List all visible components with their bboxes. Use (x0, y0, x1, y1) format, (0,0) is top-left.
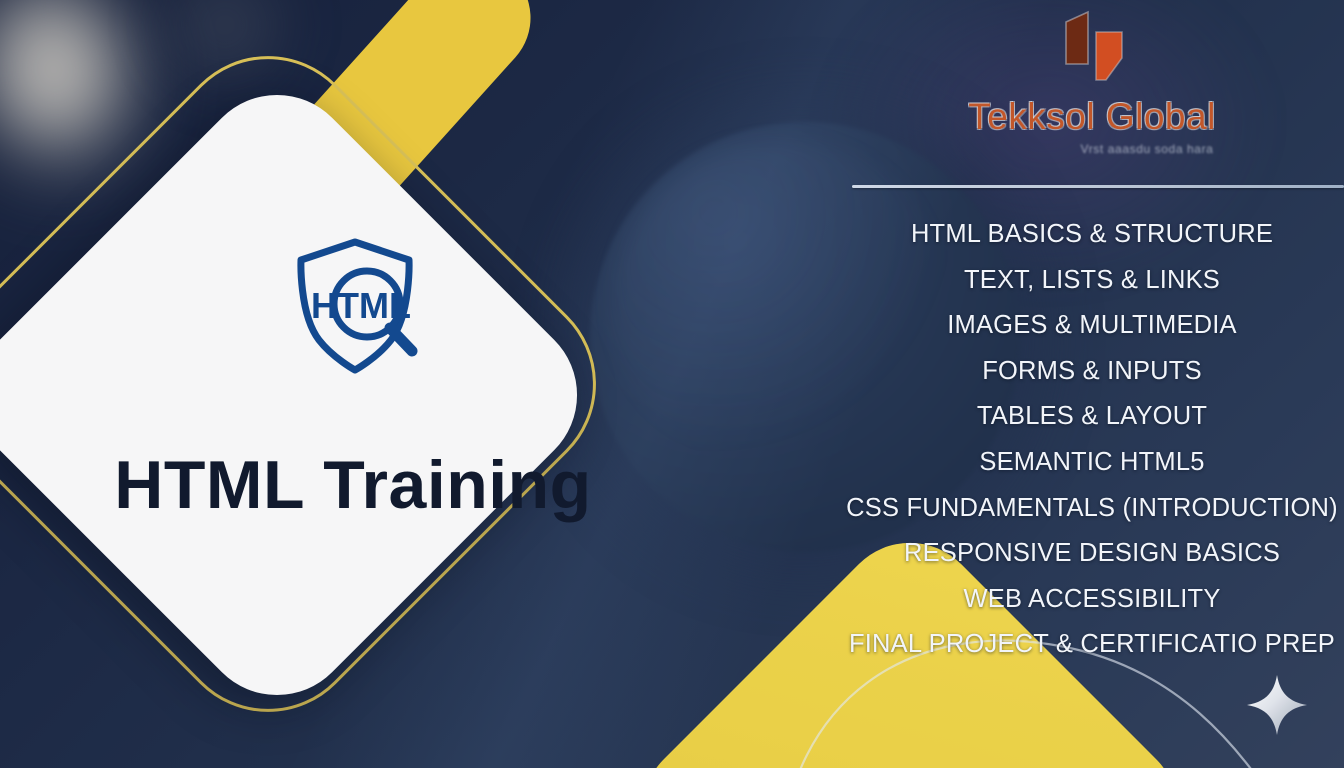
right-panel: Tekksol Global Vrst aaasdu soda hara HTM… (840, 0, 1344, 768)
list-item: RESPONSIVE DESIGN BASICS (904, 531, 1280, 577)
topic-list: HTML BASICS & STRUCTURE TEXT, LISTS & LI… (840, 212, 1344, 668)
sparkle-star-icon (1244, 672, 1310, 738)
list-item: HTML BASICS & STRUCTURE (911, 212, 1273, 258)
tekksol-logo-icon (1046, 8, 1138, 94)
slide-canvas: HTML HTML Training Tekksol Global Vrst a… (0, 0, 1344, 768)
list-item: FORMS & INPUTS (982, 349, 1202, 395)
brand-tagline: Vrst aaasdu soda hara (1081, 142, 1214, 156)
list-item: IMAGES & MULTIMEDIA (947, 303, 1237, 349)
list-item: SEMANTIC HTML5 (979, 440, 1204, 486)
list-item: TEXT, LISTS & LINKS (964, 258, 1220, 304)
list-item: WEB ACCESSIBILITY (963, 577, 1220, 623)
list-item: FINAL PROJECT & CERTIFICATIO PREP (849, 622, 1335, 668)
list-item: TABLES & LAYOUT (977, 394, 1207, 440)
title-card-content: HTML HTML Training (0, 230, 720, 570)
list-item: CSS FUNDAMENTALS (INTRODUCTION) (846, 486, 1338, 532)
brand-name: Tekksol Global (968, 98, 1216, 135)
html-shield-magnifier-icon: HTML (275, 230, 435, 380)
page-title: HTML Training (114, 446, 591, 524)
header-divider (852, 185, 1344, 188)
brand-block: Tekksol Global Vrst aaasdu soda hara (840, 8, 1344, 156)
